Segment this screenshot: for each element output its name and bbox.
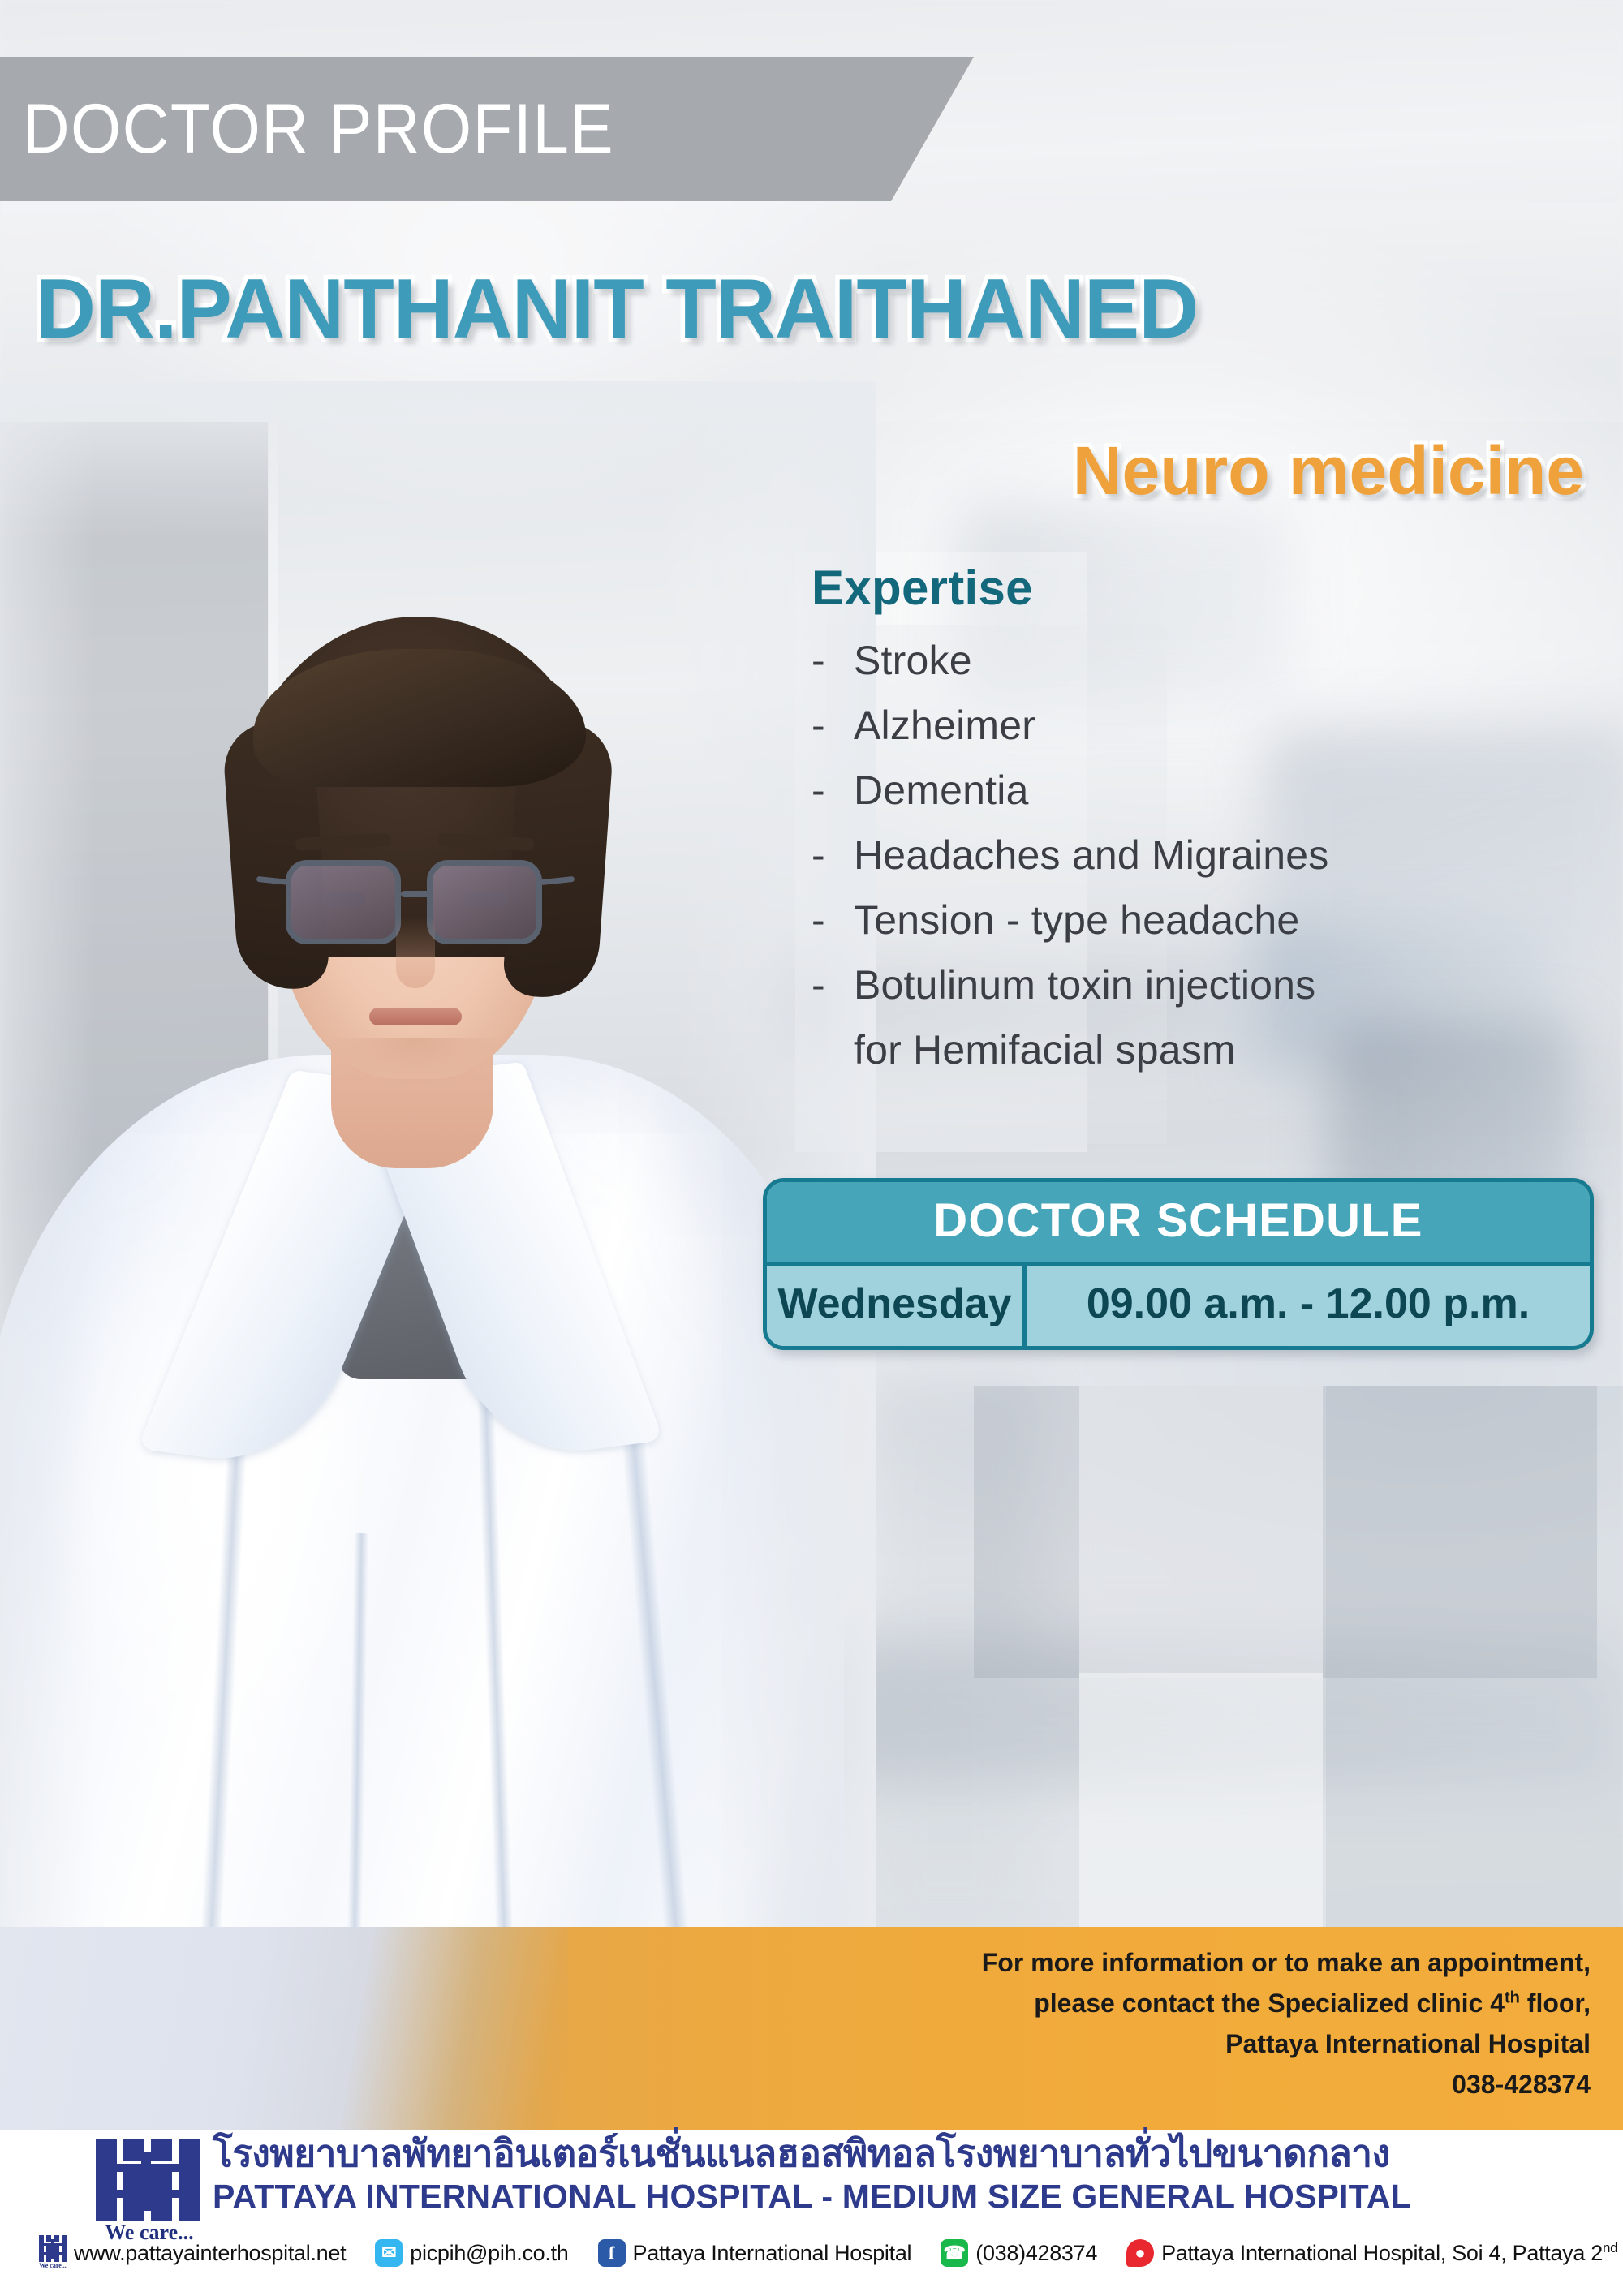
expertise-item: - Botulinum toxin injections: [811, 965, 1591, 1005]
bullet-dash: -: [811, 770, 854, 810]
photo-edge-fade: [0, 381, 876, 2134]
bullet-dash: -: [811, 640, 854, 681]
logo-caption: We care...: [39, 2262, 67, 2269]
contact-facebook[interactable]: f Pattaya International Hospital: [598, 2239, 912, 2267]
schedule-title: DOCTOR SCHEDULE: [767, 1182, 1590, 1266]
note-line-2-a: please contact the Specialized clinic 4: [1034, 1989, 1505, 2018]
expertise-item-label-continued: for Hemifacial spasm: [854, 1030, 1236, 1070]
phone-icon: ☎: [941, 2239, 968, 2267]
note-line-2-b: floor,: [1520, 1989, 1591, 2018]
background-blur-shape: [860, 1379, 1039, 1947]
facebook-label: Pattaya International Hospital: [633, 2241, 912, 2266]
photo-over-band: [0, 1927, 568, 2130]
bullet-dash: -: [811, 705, 854, 746]
expertise-section: Expertise - Stroke - Alzheimer - Dementi…: [811, 560, 1591, 1070]
banner-title: DOCTOR PROFILE: [0, 89, 614, 170]
email-icon: ✉: [375, 2239, 403, 2267]
pih-monogram: [96, 2139, 203, 2221]
doctor-name: DR.PANTHANIT TRAITHANED: [36, 261, 1578, 358]
note-phone: 038-428374: [941, 2065, 1591, 2105]
schedule-row: Wednesday 09.00 a.m. - 12.00 p.m.: [767, 1266, 1590, 1346]
hospital-logo-icon: We care...: [96, 2139, 203, 2242]
expertise-item-label: Stroke: [854, 640, 972, 681]
contact-phone[interactable]: ☎ (038)428374: [941, 2239, 1097, 2267]
doctor-profile-poster: DOCTOR PROFILE DR.PANTHANIT TRAITHANED N…: [0, 0, 1623, 2296]
bullet-dash: -: [811, 965, 854, 1005]
bullet-dash: -: [811, 835, 854, 875]
note-line-1: For more information or to make an appoi…: [941, 1943, 1591, 1984]
hospital-logo-icon: We care...: [39, 2235, 67, 2271]
footer-contact-bar: We care... www.pattayainterhospital.net …: [39, 2235, 1623, 2271]
expertise-item-label: Botulinum toxin injections: [854, 965, 1315, 1005]
footer: We care... โรงพยาบาลพัทยาอินเตอร์เนชั่นแ…: [0, 2130, 1623, 2296]
expertise-item: - Alzheimer: [811, 705, 1591, 746]
note-line-3: Pattaya International Hospital: [941, 2024, 1591, 2065]
doctor-specialty: Neuro medicine: [0, 432, 1584, 510]
expertise-item-label: Headaches and Migraines: [854, 835, 1329, 875]
facebook-icon: f: [598, 2239, 626, 2267]
contact-address[interactable]: ● Pattaya International Hospital, Soi 4,…: [1126, 2239, 1623, 2267]
expertise-item-label: Alzheimer: [854, 705, 1035, 746]
expertise-item: - Tension - type headache: [811, 900, 1591, 940]
expertise-heading: Expertise: [811, 560, 1591, 616]
expertise-item-label: Dementia: [854, 770, 1029, 810]
expertise-item: - Headaches and Migraines: [811, 835, 1591, 875]
expertise-item: - Stroke: [811, 640, 1591, 681]
expertise-item-label: Tension - type headache: [854, 900, 1299, 940]
contact-website[interactable]: We care... www.pattayainterhospital.net: [39, 2235, 346, 2271]
ordinal-suffix: nd: [1603, 2240, 1617, 2255]
ordinal-suffix: th: [1505, 1989, 1520, 2006]
expertise-list: - Stroke - Alzheimer - Dementia - Headac…: [811, 640, 1591, 1070]
address-label-b: Rd., Pattaya City, Chonburi: [1617, 2241, 1623, 2265]
doctor-profile-banner: DOCTOR PROFILE: [0, 57, 974, 201]
address-label-a: Pattaya International Hospital, Soi 4, P…: [1161, 2241, 1603, 2265]
expertise-item: - Dementia: [811, 770, 1591, 810]
location-pin-icon: ●: [1126, 2239, 1154, 2267]
hospital-name-thai: โรงพยาบาลพัทยาอินเตอร์เนชั่นแนลฮอสพิทอลโ…: [213, 2133, 1411, 2174]
hospital-names: โรงพยาบาลพัทยาอินเตอร์เนชั่นแนลฮอสพิทอลโ…: [213, 2133, 1411, 2216]
bullet-dash: -: [811, 900, 854, 940]
doctor-schedule-card: DOCTOR SCHEDULE Wednesday 09.00 a.m. - 1…: [763, 1178, 1594, 1350]
hospital-name-english: PATTAYA INTERNATIONAL HOSPITAL - MEDIUM …: [213, 2178, 1411, 2216]
address-label: Pattaya International Hospital, Soi 4, P…: [1161, 2240, 1623, 2266]
doctor-portrait: [0, 381, 876, 2134]
expertise-item-continuation: for Hemifacial spasm: [811, 1030, 1591, 1070]
schedule-time: 09.00 a.m. - 12.00 p.m.: [1027, 1266, 1590, 1346]
schedule-day: Wednesday: [767, 1266, 1027, 1346]
website-label: www.pattayainterhospital.net: [74, 2241, 346, 2266]
phone-label: (038)428374: [975, 2241, 1097, 2266]
email-label: picpih@pih.co.th: [410, 2241, 568, 2266]
note-line-2: please contact the Specialized clinic 4t…: [941, 1984, 1591, 2024]
appointment-note: For more information or to make an appoi…: [941, 1943, 1591, 2105]
contact-email[interactable]: ✉ picpih@pih.co.th: [375, 2239, 568, 2267]
